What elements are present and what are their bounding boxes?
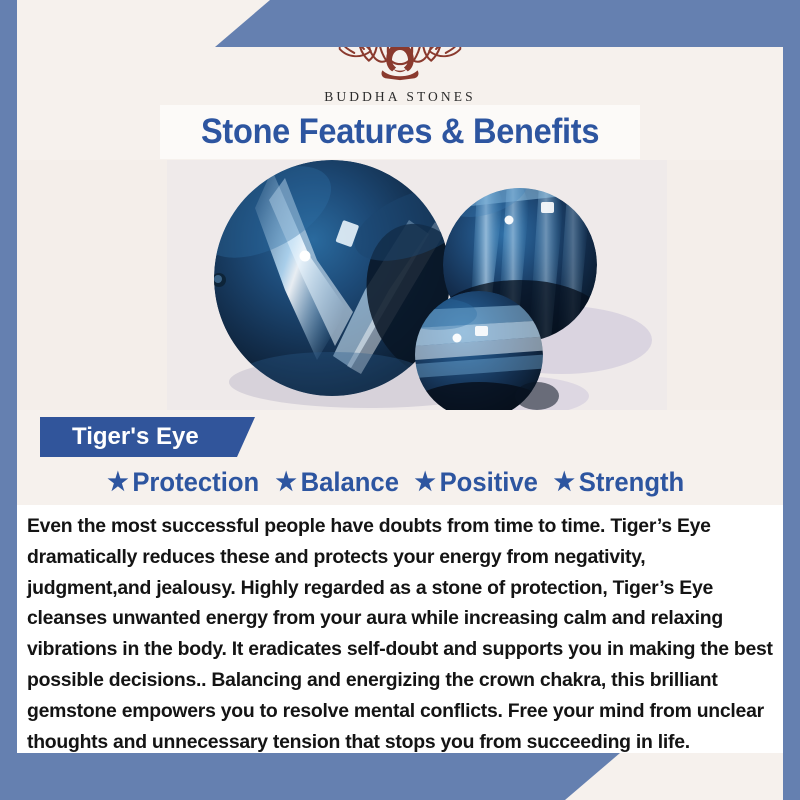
benefit-label: Strength <box>579 467 684 498</box>
decor-right-bar <box>783 0 800 800</box>
benefit-label: Positive <box>440 467 538 498</box>
hero-image <box>17 160 783 410</box>
page-title-band: Stone Features & Benefits <box>160 105 640 159</box>
decor-left-bar <box>0 0 17 800</box>
benefit-label: Protection <box>133 467 260 498</box>
poster-canvas: BUDDHA STONES Stone Features & Benefits … <box>0 0 800 800</box>
description-text: Even the most successful people have dou… <box>27 511 773 757</box>
star-icon: ★ <box>415 470 436 495</box>
benefits-row: ★ Protection ★ Balance ★ Positive ★ Stre… <box>17 463 783 501</box>
star-icon: ★ <box>276 470 297 495</box>
stone-name-banner: Tiger's Eye <box>40 417 255 457</box>
star-icon: ★ <box>108 470 129 495</box>
stone-name: Tiger's Eye <box>40 423 199 451</box>
decor-top-bar <box>215 0 800 47</box>
benefit-label: Balance <box>301 467 399 498</box>
decor-bottom-bar <box>0 753 620 800</box>
benefit-item-positive: ★ Positive <box>415 467 547 498</box>
benefit-item-strength: ★ Strength <box>554 467 693 498</box>
star-icon: ★ <box>554 470 575 495</box>
description-panel: Even the most successful people have dou… <box>17 505 783 753</box>
page-title: Stone Features & Benefits <box>201 112 599 152</box>
brand-name: BUDDHA STONES <box>324 89 475 105</box>
benefit-item-balance: ★ Balance <box>276 467 408 498</box>
benefit-item-protection: ★ Protection <box>108 467 268 498</box>
